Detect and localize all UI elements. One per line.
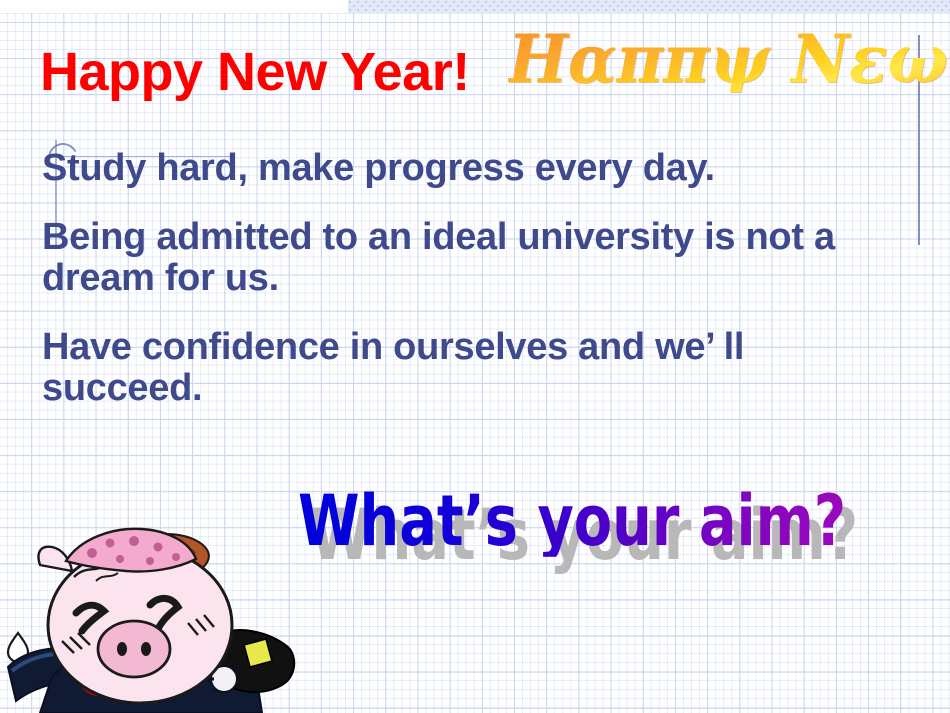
paragraph-study-hard: Study hard, make progress every day. xyxy=(42,148,887,189)
wordart-whats-your-aim: What’s your aim? What’s your aim? xyxy=(298,486,738,578)
cartoon-pig-image xyxy=(0,521,300,713)
page-title: Happy New Year! xyxy=(40,45,470,99)
paper-top-left-margin xyxy=(0,0,348,13)
slide-canvas: Happy New Year! Study hard, make progres… xyxy=(0,0,950,713)
wordart-aim-text: What’s your aim? xyxy=(298,486,846,557)
paragraph-confidence: Have confidence in ourselves and we’ ll … xyxy=(42,327,887,409)
paper-top-texture-band xyxy=(348,0,950,13)
wordart-happy-new-year: Ηαππψ Νεω Ψεαρ! xyxy=(508,26,950,92)
body-text-block: Study hard, make progress every day. Bei… xyxy=(42,148,887,409)
pig-snout xyxy=(98,621,170,677)
paragraph-ideal-university: Being admitted to an ideal university is… xyxy=(42,217,887,299)
